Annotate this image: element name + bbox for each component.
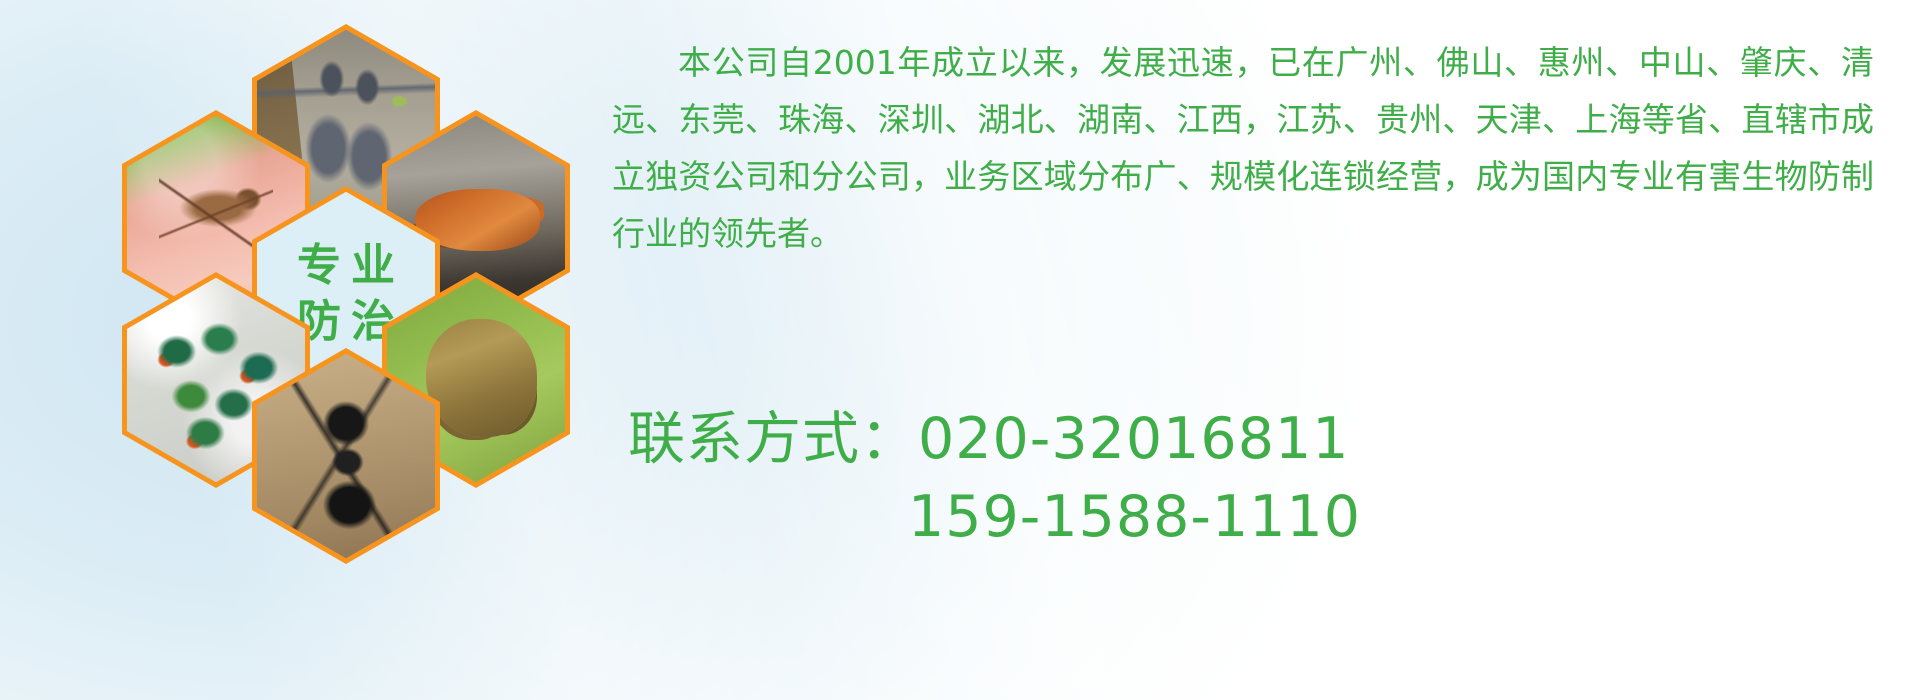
company-intro-paragraph: 本公司自2001年成立以来，发展迅速，已在广州、佛山、惠州、中山、肇庆、清远、东… bbox=[612, 34, 1874, 262]
promo-banner: 专业 防治 本公司自2001年成立以来，发展迅速，已在广州、佛山、惠州、中山 bbox=[0, 0, 1920, 700]
hex-photo-frame bbox=[257, 354, 435, 559]
contact-block: 联系方式：020-32016811 159-1588-1110 bbox=[612, 400, 1874, 556]
contact-phone-primary[interactable]: 联系方式：020-32016811 bbox=[612, 400, 1874, 478]
ant-photo bbox=[257, 354, 435, 559]
slogan-line-1: 专业 bbox=[287, 243, 405, 289]
contact-phone-secondary[interactable]: 159-1588-1110 bbox=[612, 478, 1874, 556]
company-intro-block: 本公司自2001年成立以来，发展迅速，已在广州、佛山、惠州、中山、肇庆、清远、东… bbox=[612, 34, 1874, 262]
honeycomb-graphic: 专业 防治 bbox=[88, 0, 608, 570]
